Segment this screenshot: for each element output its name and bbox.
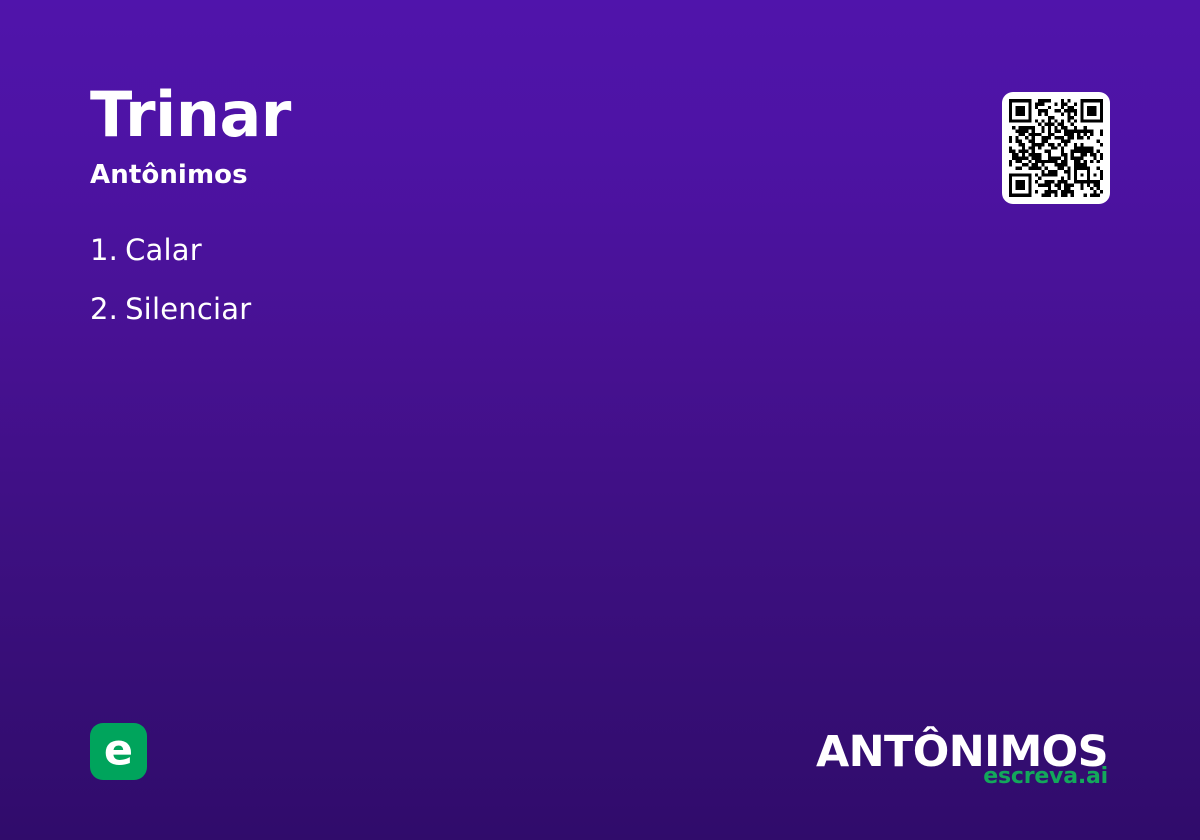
brand-logo-letter: e <box>90 729 147 772</box>
list-item-index: 2. <box>90 292 118 326</box>
list-item-index: 1. <box>90 233 118 267</box>
brand-wordmark: ANTÔNIMOS escreva.ai <box>816 731 1108 788</box>
list-item: 1.Calar <box>90 236 910 265</box>
qr-code-icon <box>1009 99 1103 197</box>
list-item-label: Silenciar <box>125 292 251 326</box>
qr-code[interactable] <box>1002 92 1110 204</box>
page-title: Trinar <box>90 84 890 146</box>
share-card: Trinar Antônimos 1.Calar 2.Silenciar e A… <box>0 0 1200 840</box>
word-block: Trinar Antônimos <box>90 84 890 190</box>
list-item-label: Calar <box>125 233 202 267</box>
brand-logo-mark: e <box>90 723 147 780</box>
antonym-list: 1.Calar 2.Silenciar <box>90 236 910 354</box>
page-subtitle: Antônimos <box>90 160 890 190</box>
list-item: 2.Silenciar <box>90 295 910 324</box>
